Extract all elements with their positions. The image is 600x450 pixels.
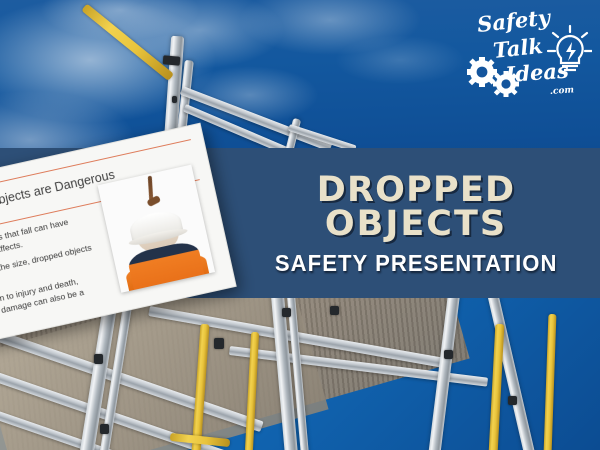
svg-text:.com: .com: [550, 85, 575, 97]
safety-talk-ideas-logo[interactable]: Safety Talk Ideas .com: [460, 6, 592, 104]
scaffold-clamp: [508, 396, 517, 405]
logo-svg: Safety Talk Ideas .com: [460, 6, 592, 104]
scaffold-clamp: [282, 308, 291, 317]
gear-icon: [467, 57, 497, 87]
scaffold-clamp: [214, 338, 224, 349]
svg-text:Safety: Safety: [476, 6, 553, 37]
gear-icon: [493, 71, 519, 97]
scaffold-clamp: [94, 354, 103, 364]
svg-text:Talk: Talk: [492, 33, 544, 63]
poster-title-line1: DROPPED: [317, 173, 515, 207]
slide-image-worker-hardhat: [98, 165, 216, 293]
scaffold-clamp: [172, 96, 177, 103]
poster-title: DROPPED OBJECTS: [317, 173, 515, 242]
scaffold-clamp: [163, 55, 181, 65]
yellow-brace: [81, 4, 174, 81]
poster-title-line2: OBJECTS: [317, 207, 515, 241]
scaffold-clamp: [100, 424, 109, 434]
title-banner-text-group: DROPPED OBJECTS SAFETY PRESENTATION: [232, 148, 600, 298]
poster-subtitle: SAFETY PRESENTATION: [275, 250, 558, 277]
scaffold-clamp: [330, 306, 339, 315]
scaffold-clamp: [444, 350, 453, 359]
poster-canvas: DROPPED OBJECTS SAFETY PRESENTATION Drop…: [0, 0, 600, 450]
